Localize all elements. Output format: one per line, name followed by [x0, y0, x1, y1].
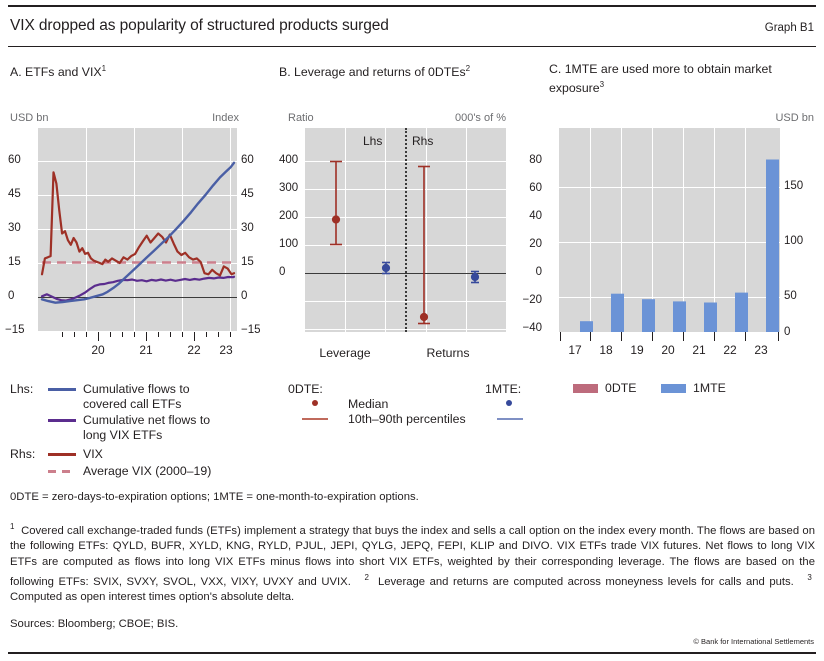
panel-a-xlabel-20: 20	[76, 343, 120, 357]
panel-c-ytick-100: 100	[784, 235, 803, 247]
panel-c-footnote-marker: 3	[600, 80, 604, 89]
panel-b-ytick-300: 300	[279, 182, 298, 194]
panel-b-lhs-label: Lhs	[363, 134, 382, 148]
legend-b-group-0dte: 0DTE:	[288, 381, 323, 398]
panel-a-ytick-45: 45	[8, 188, 34, 200]
legend-a-label-covered-call-2: covered call ETFs	[83, 396, 181, 413]
panel-c-bars-svg	[559, 128, 780, 332]
panel-a-title: A. ETFs and VIX1	[10, 61, 260, 80]
footnote-1-marker: 1	[10, 522, 14, 531]
legend-b-group-1mte: 1MTE:	[485, 381, 521, 398]
panel-a-xtick-major-20	[98, 332, 99, 341]
panel-a-xtick-minor-6	[134, 332, 135, 337]
panel-a-left-axis-caption: USD bn	[10, 112, 49, 124]
legend-a-label-average-vix: Average VIX (2000–19)	[83, 463, 211, 480]
panel-a-y2tick-30: 30	[241, 222, 254, 234]
panel-b-footnote-marker: 2	[466, 64, 470, 73]
legend-c-swatch-1mte	[661, 384, 686, 393]
panel-a-ytick-60: 60	[8, 154, 34, 166]
panel-a-title-text: A. ETFs and VIX	[10, 65, 102, 79]
legend-b-dot-0dte-median	[312, 400, 318, 406]
panel-c-xtick-7	[778, 332, 779, 341]
panel-b-plot-area: Lhs Rhs	[305, 128, 506, 332]
footnote-3-text: Computed as open interest times option's…	[10, 591, 294, 603]
page-title: VIX dropped as popularity of structured …	[10, 17, 389, 35]
panel-c-xtick-0	[560, 332, 561, 341]
panel-b-ytick-0: 0	[279, 266, 285, 278]
panel-c-ytick-50: 50	[784, 290, 797, 302]
panel-a-xtick-minor-2	[74, 332, 75, 337]
panel-a-xtick-minor-5	[122, 332, 123, 337]
legend-b-line-0dte-percentiles	[302, 418, 328, 420]
panel-c-xtick-1	[590, 332, 591, 341]
copyright-notice: © Bank for International Settlements	[693, 637, 814, 646]
bottom-rule	[8, 652, 816, 654]
panel-a-right-axis-caption: Index	[199, 112, 239, 124]
panel-b-category-leverage: Leverage	[300, 346, 390, 360]
panel-b-category-returns: Returns	[404, 346, 492, 360]
panel-a-ytick-minus15: −15	[5, 324, 35, 336]
panel-c-xtick-3	[652, 332, 653, 341]
bar-1mte-22	[735, 293, 748, 332]
panel-a-xtick-minor-7	[158, 332, 159, 337]
bar-1mte-20	[673, 301, 686, 332]
footnote-2-text: Leverage and returns are computed across…	[378, 576, 794, 588]
graph-number: Graph B1	[765, 22, 814, 34]
panel-a-ytick-30: 30	[8, 222, 34, 234]
panel-a-xtick-minor-3	[86, 332, 87, 337]
panel-b-y2tick-minus40: −40	[506, 322, 542, 334]
bar-1mte-19	[642, 299, 655, 332]
panel-c-xtick-5	[714, 332, 715, 341]
panel-a-xtick-major-22	[194, 332, 195, 341]
bar-1mte-18	[611, 294, 624, 332]
footnote-abbreviation: 0DTE = zero-days-to-expiration options; …	[10, 490, 810, 505]
panel-c-right-axis-caption: USD bn	[740, 112, 814, 124]
legend-c-swatch-0dte	[573, 384, 598, 393]
panel-c-title: C. 1MTE are used more to obtain market e…	[549, 61, 819, 96]
returns-1mte-marker	[471, 271, 479, 283]
legend-a-rhs-prefix: Rhs:	[10, 446, 35, 463]
panel-b-y2tick-minus20: −20	[506, 294, 542, 306]
panel-a-xtick-minor-4	[110, 332, 111, 337]
panel-a-xlabel-23: 23	[204, 343, 248, 357]
panel-a-y2tick-minus15: −15	[241, 324, 261, 336]
panel-a-plot-area	[38, 128, 237, 332]
panel-a-ytick-0: 0	[8, 290, 34, 302]
top-rule	[8, 5, 816, 7]
panel-b-ytick-400: 400	[279, 154, 298, 166]
panel-c-xtick-6	[745, 332, 746, 341]
panel-a-footnote-marker: 1	[102, 64, 106, 73]
panel-c-title-text: C. 1MTE are used more to obtain market e…	[549, 62, 772, 95]
legend-c-label-1mte: 1MTE	[693, 380, 726, 397]
panel-a-xtick-minor-1	[62, 332, 63, 337]
panel-a-ytick-15: 15	[8, 256, 34, 268]
panel-a-y2tick-0: 0	[241, 290, 247, 302]
legend-b-line-1mte-percentiles	[497, 418, 523, 420]
panel-b-title: B. Leverage and returns of 0DTEs2	[279, 61, 544, 80]
graph-page: VIX dropped as popularity of structured …	[0, 0, 824, 661]
vix-line	[42, 172, 234, 275]
panel-b-ytick-100: 100	[279, 238, 298, 250]
panel-b-y2tick-60: 60	[510, 182, 542, 194]
legend-a-lhs-prefix: Lhs:	[10, 381, 33, 398]
panel-b-title-text: B. Leverage and returns of 0DTEs	[279, 65, 466, 79]
panel-a-xtick-minor-10	[206, 332, 207, 337]
panel-b-y2tick-80: 80	[510, 154, 542, 166]
sources-line: Sources: Bloomberg; CBOE; BIS.	[10, 617, 178, 632]
panel-a-xtick-minor-12	[230, 332, 231, 337]
footnote-2-marker: 2	[364, 573, 368, 582]
bar-1mte-21	[704, 303, 717, 333]
panel-c-xtick-4	[683, 332, 684, 341]
legend-c-label-0dte: 0DTE	[605, 380, 636, 397]
panel-b-right-axis-caption: 000's of %	[430, 112, 506, 124]
panel-c-plot-area	[559, 128, 780, 332]
footnote-block: 1 Covered call exchange-traded funds (ET…	[10, 519, 815, 606]
panel-a-xtick-minor-9	[182, 332, 183, 337]
panel-a-xtick-minor-8	[170, 332, 171, 337]
footnote-3-marker: 3	[807, 573, 811, 582]
panel-b-ytick-200: 200	[279, 210, 298, 222]
panel-b-y2tick-20: 20	[510, 238, 542, 250]
panel-c-xtick-2	[621, 332, 622, 341]
panel-a-xtick-minor-11	[218, 332, 219, 337]
panel-b-markers-svg	[305, 128, 506, 332]
bar-1mte-23	[766, 160, 779, 333]
panel-b-y2tick-40: 40	[510, 210, 542, 222]
panel-a-series-svg	[38, 128, 237, 332]
returns-0dte-marker	[418, 166, 430, 324]
panel-a-y2tick-60: 60	[241, 154, 254, 166]
legend-a-label-long-vix-2: long VIX ETFs	[83, 427, 162, 444]
legend-b-label-percentiles: 10th–90th percentiles	[348, 411, 466, 428]
leverage-1mte-marker	[382, 262, 390, 274]
legend-a-line-vix	[48, 453, 76, 456]
panel-b-y2tick-0: 0	[510, 266, 542, 278]
panel-c-xlabel-23: 23	[739, 343, 783, 357]
leverage-0dte-marker	[330, 161, 342, 245]
long-vix-etf-flows-line	[42, 277, 234, 301]
panel-a-y2tick-45: 45	[241, 188, 254, 200]
panel-b-rhs-label: Rhs	[412, 134, 433, 148]
legend-a-line-long-vix	[48, 419, 76, 422]
legend-b-dot-1mte-median	[506, 400, 512, 406]
legend-a-label-vix: VIX	[83, 446, 103, 463]
title-rule	[8, 46, 816, 47]
legend-a-line-covered-call	[48, 388, 76, 391]
legend-a-line-average-vix	[48, 470, 76, 473]
panel-c-ytick-150: 150	[784, 180, 803, 192]
panel-c-ytick-0: 0	[784, 326, 790, 338]
panel-a-xlabel-21: 21	[124, 343, 168, 357]
panel-a-y2tick-15: 15	[241, 256, 254, 268]
panel-a-xtick-major-21	[146, 332, 147, 341]
bar-1mte-17	[580, 321, 593, 332]
panel-b-left-axis-caption: Ratio	[288, 112, 314, 124]
